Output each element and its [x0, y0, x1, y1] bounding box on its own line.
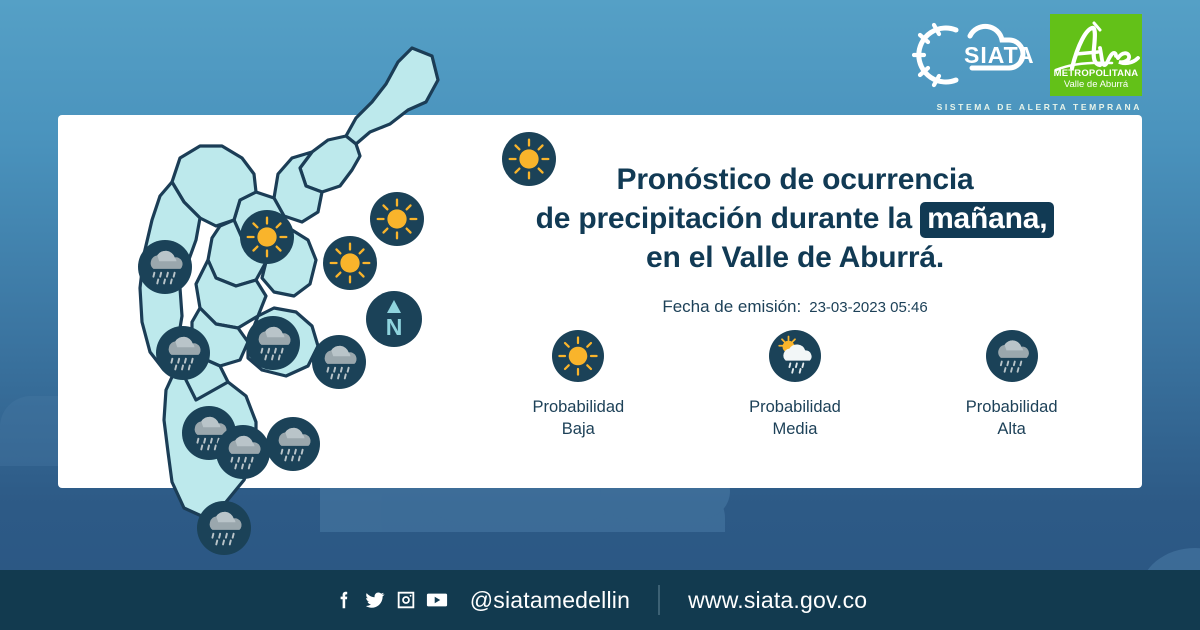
footer-bar: @siatamedellin www.siata.gov.co: [0, 570, 1200, 630]
twitter-icon[interactable]: [364, 589, 386, 611]
rain-cloud-icon: [986, 330, 1038, 382]
social-links: [333, 589, 448, 611]
area-metropolitana-logo: METROPOLITANA Valle de Aburrá: [1050, 14, 1142, 96]
marker-north-mid: [370, 192, 424, 246]
sun-rain-icon: [769, 330, 821, 382]
legend-label-line-2: Baja: [532, 418, 624, 440]
issue-date-value: 23-03-2023 05:46: [809, 299, 927, 316]
siata-tagline: SISTEMA DE ALERTA TEMPRANA: [937, 102, 1142, 112]
rain-cloud-icon: [312, 335, 366, 389]
sun-icon: [370, 192, 424, 246]
sun-icon: [552, 330, 604, 382]
siata-logo-icon: SIATA: [912, 22, 1040, 88]
headline-line-1: Pronóstico de ocurrencia: [470, 160, 1120, 199]
legend-label-line-1: Probabilidad: [749, 396, 841, 418]
logo-row: SIATA METROPOLITANA Valle de Aburrá: [912, 14, 1142, 96]
compass-label: N: [386, 314, 403, 340]
website-url[interactable]: www.siata.gov.co: [688, 587, 867, 614]
headline-line-2-text: de precipitación durante la: [536, 202, 912, 235]
rain-cloud-icon: [156, 326, 210, 380]
map-region-girardota: [300, 136, 360, 192]
compass-north-icon: N: [366, 291, 422, 347]
headline-line-3: en el Valle de Aburrá.: [470, 238, 1120, 277]
sun-icon: [240, 210, 294, 264]
marker-far-south: [197, 501, 251, 555]
social-handle[interactable]: @siatamedellin: [470, 587, 630, 614]
legend-label: ProbabilidadBaja: [532, 396, 624, 441]
area-script-icon: [1050, 18, 1142, 74]
legend-item-media: ProbabilidadMedia: [700, 330, 890, 441]
rain-cloud-icon: [986, 330, 1038, 382]
footer-divider: [658, 585, 660, 615]
legend-item-alta: ProbabilidadAlta: [917, 330, 1107, 441]
legend-label: ProbabilidadMedia: [749, 396, 841, 441]
youtube-icon[interactable]: [426, 589, 448, 611]
sun-rain-icon: [769, 330, 821, 382]
legend-label-line-2: Media: [749, 418, 841, 440]
instagram-icon[interactable]: [395, 589, 417, 611]
sun-icon: [552, 330, 604, 382]
legend-label-line-2: Alta: [966, 418, 1058, 440]
siata-wordmark: SIATA: [964, 42, 1035, 68]
rain-cloud-icon: [266, 417, 320, 471]
area-valle-label: Valle de Aburrá: [1064, 80, 1128, 91]
headline-highlight: mañana,: [920, 202, 1054, 238]
page-title: Pronóstico de ocurrencia de precipitació…: [470, 160, 1120, 277]
marker-center-mid: [246, 316, 300, 370]
marker-north-west: [240, 210, 294, 264]
legend-label-line-1: Probabilidad: [966, 396, 1058, 418]
legend-label: ProbabilidadAlta: [966, 396, 1058, 441]
marker-center-north: [323, 236, 377, 290]
issue-date-label: Fecha de emisión:: [662, 297, 801, 317]
probability-legend: ProbabilidadBaja ProbabilidadMedia: [470, 330, 1120, 441]
valle-de-aburra-map: N: [60, 40, 420, 570]
rain-cloud-icon: [138, 240, 192, 294]
legend-item-baja: ProbabilidadBaja: [483, 330, 673, 441]
rain-cloud-icon: [197, 501, 251, 555]
marker-south-east: [266, 417, 320, 471]
rain-cloud-icon: [246, 316, 300, 370]
marker-far-west: [138, 240, 192, 294]
issue-date: Fecha de emisión: 23-03-2023 05:46: [470, 297, 1120, 317]
marker-west-mid: [156, 326, 210, 380]
marker-east-mid: [312, 335, 366, 389]
logo-bar: SIATA METROPOLITANA Valle de Aburrá SIST…: [912, 14, 1142, 112]
facebook-icon[interactable]: [333, 589, 355, 611]
rain-cloud-icon: [216, 425, 270, 479]
headline-line-2: de precipitación durante la mañana,: [470, 199, 1120, 238]
sun-icon: [323, 236, 377, 290]
marker-south-mid: [216, 425, 270, 479]
forecast-text-panel: Pronóstico de ocurrencia de precipitació…: [470, 160, 1120, 317]
legend-label-line-1: Probabilidad: [532, 396, 624, 418]
